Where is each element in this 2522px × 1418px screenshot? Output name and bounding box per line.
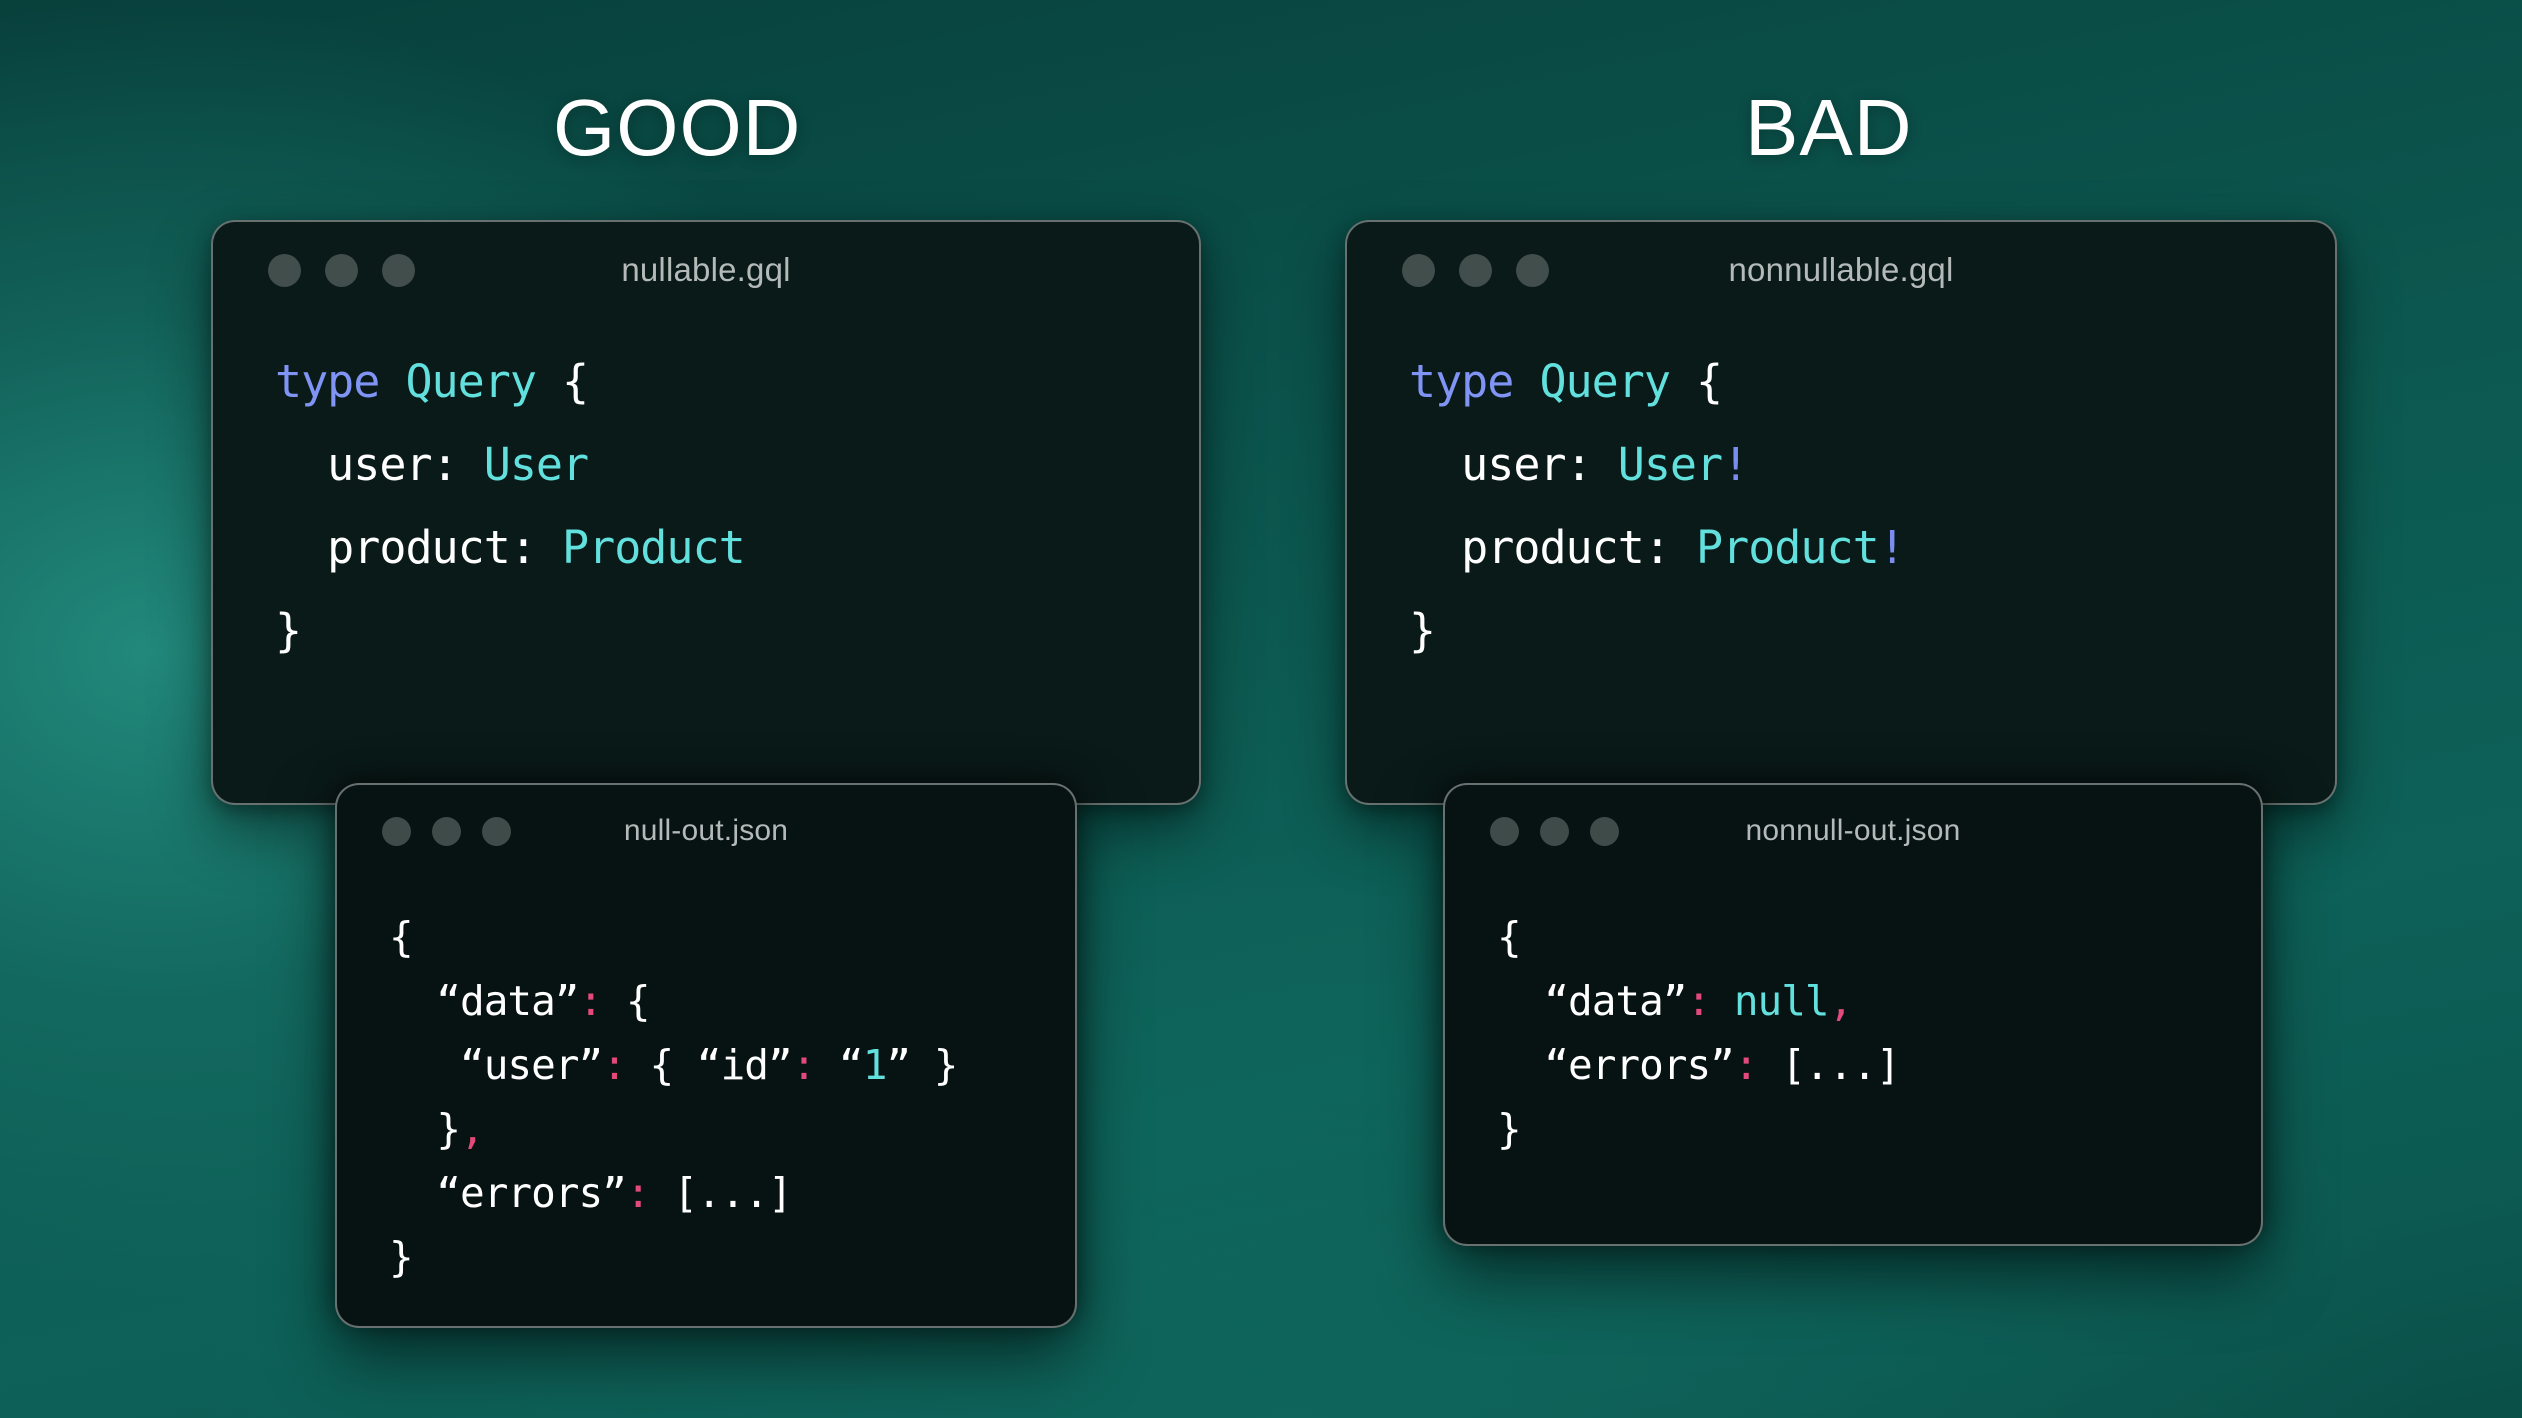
code-token: } [389, 1233, 413, 1281]
code-token: “data” [1497, 977, 1686, 1025]
minimize-dot-icon[interactable] [1540, 817, 1569, 846]
maximize-dot-icon[interactable] [1590, 817, 1619, 846]
comparison-stage: GOOD BAD nullable.gql type Query { user:… [0, 0, 2522, 1418]
code-line: } [389, 1225, 1075, 1289]
code-token: } [1497, 1105, 1521, 1153]
window-titlebar[interactable]: nonnull-out.json [1445, 785, 2261, 877]
code-token: , [460, 1105, 484, 1153]
code-line: }, [389, 1097, 1075, 1161]
code-token: } [275, 604, 301, 657]
code-token: Product [562, 521, 745, 574]
minimize-dot-icon[interactable] [325, 254, 358, 287]
code-token: ! [1879, 521, 1905, 574]
code-content: { “data”: { “user”: { “id”: “1” } }, “er… [337, 877, 1075, 1289]
code-content: type Query { user: User! product: Produc… [1347, 318, 2335, 672]
code-token: , [1829, 977, 1853, 1025]
window-traffic-lights [268, 254, 415, 287]
code-line: “errors”: [...] [389, 1161, 1075, 1225]
code-line: type Query { [1409, 340, 2335, 423]
code-content: type Query { user: User product: Product… [213, 318, 1199, 672]
code-line: “errors”: [...] [1497, 1033, 2261, 1097]
code-token: product: [275, 521, 562, 574]
window-titlebar[interactable]: nullable.gql [213, 222, 1199, 318]
code-token: Query [405, 355, 535, 408]
code-line: } [1409, 589, 2335, 672]
code-line: } [1497, 1097, 2261, 1161]
code-token [1513, 355, 1539, 408]
code-token: : [1686, 977, 1710, 1025]
maximize-dot-icon[interactable] [382, 254, 415, 287]
window-traffic-lights [1402, 254, 1549, 287]
maximize-dot-icon[interactable] [482, 817, 511, 846]
window-titlebar[interactable]: nonnullable.gql [1347, 222, 2335, 318]
code-token: { [602, 977, 649, 1025]
close-dot-icon[interactable] [382, 817, 411, 846]
code-window-null-out-json[interactable]: null-out.json { “data”: { “user”: { “id”… [335, 783, 1077, 1328]
code-line: “user”: { “id”: “1” } [389, 1033, 1075, 1097]
close-dot-icon[interactable] [1402, 254, 1435, 287]
code-window-nonnullable-gql[interactable]: nonnullable.gql type Query { user: User!… [1345, 220, 2337, 805]
code-token: { [389, 913, 413, 961]
code-line: product: Product [275, 506, 1199, 589]
code-line: } [275, 589, 1199, 672]
code-token: “errors” [389, 1169, 626, 1217]
code-token: User [1618, 438, 1722, 491]
code-line: “data”: { [389, 969, 1075, 1033]
code-token: { [536, 355, 588, 408]
code-token: “data” [389, 977, 578, 1025]
code-content: { “data”: null, “errors”: [...]} [1445, 877, 2261, 1161]
code-token: ” } [886, 1041, 957, 1089]
close-dot-icon[interactable] [1490, 817, 1519, 846]
window-traffic-lights [1490, 817, 1619, 846]
code-line: { [389, 905, 1075, 969]
code-token: : [792, 1041, 816, 1089]
code-token: [...] [650, 1169, 792, 1217]
code-line: { [1497, 905, 2261, 969]
code-token: 1 [863, 1041, 887, 1089]
code-window-nullable-gql[interactable]: nullable.gql type Query { user: User pro… [211, 220, 1201, 805]
code-line: product: Product! [1409, 506, 2335, 589]
code-token: { [1670, 355, 1722, 408]
close-dot-icon[interactable] [268, 254, 301, 287]
code-token [379, 355, 405, 408]
maximize-dot-icon[interactable] [1516, 254, 1549, 287]
code-token: } [389, 1105, 460, 1153]
code-token: : [1734, 1041, 1758, 1089]
code-token: “ [815, 1041, 862, 1089]
column-heading-good: GOOD [553, 88, 801, 168]
code-token: { [1497, 913, 1521, 961]
code-line: “data”: null, [1497, 969, 2261, 1033]
code-token: Product [1696, 521, 1879, 574]
code-token: type [275, 355, 379, 408]
code-token: { “id” [626, 1041, 792, 1089]
code-token: user: [275, 438, 484, 491]
code-token: user: [1409, 438, 1618, 491]
window-titlebar[interactable]: null-out.json [337, 785, 1075, 877]
code-line: user: User [275, 423, 1199, 506]
code-token: type [1409, 355, 1513, 408]
column-heading-bad: BAD [1745, 88, 1913, 168]
code-line: user: User! [1409, 423, 2335, 506]
code-token [1710, 977, 1734, 1025]
code-token: “user” [389, 1041, 602, 1089]
code-token: : [578, 977, 602, 1025]
code-line: type Query { [275, 340, 1199, 423]
code-token: Query [1539, 355, 1669, 408]
code-token: : [626, 1169, 650, 1217]
code-token: } [1409, 604, 1435, 657]
window-traffic-lights [382, 817, 511, 846]
code-token: product: [1409, 521, 1696, 574]
code-token: : [602, 1041, 626, 1089]
code-window-nonnull-out-json[interactable]: nonnull-out.json { “data”: null, “errors… [1443, 783, 2263, 1246]
minimize-dot-icon[interactable] [1459, 254, 1492, 287]
code-token: [...] [1758, 1041, 1900, 1089]
minimize-dot-icon[interactable] [432, 817, 461, 846]
code-token: null [1734, 977, 1829, 1025]
code-token: User [484, 438, 588, 491]
code-token: ! [1722, 438, 1748, 491]
code-token: “errors” [1497, 1041, 1734, 1089]
